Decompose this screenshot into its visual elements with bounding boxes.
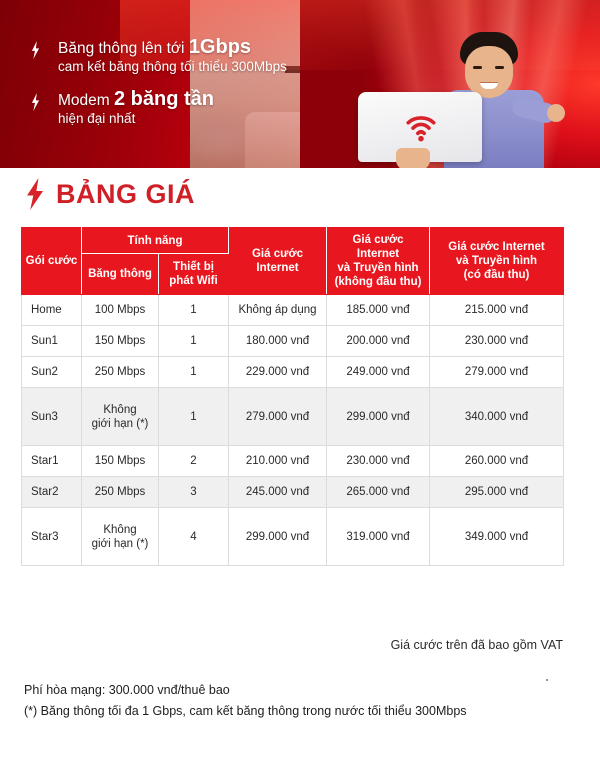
table-row: Star1150 Mbps2210.000 vnđ230.000 vnđ260.… bbox=[22, 446, 564, 477]
cell-tv-no-box-price: 265.000 vnđ bbox=[327, 477, 430, 508]
person-eye-right bbox=[495, 66, 504, 69]
col-header-internet-price-line2: Internet bbox=[232, 261, 323, 275]
cell-tv-with-box-price: 260.000 vnđ bbox=[430, 446, 564, 477]
banner-line-2-main: Modem 2 băng tần bbox=[58, 90, 326, 110]
cell-bandwidth-line1: 250 Mbps bbox=[85, 365, 155, 379]
col-header-internet-price: Giá cước Internet bbox=[229, 228, 327, 295]
cell-tv-with-box-price: 230.000 vnđ bbox=[430, 326, 564, 357]
cell-bandwidth-line1: Không bbox=[85, 403, 155, 417]
table-row: Home100 Mbps1Không áp dụng185.000 vnđ215… bbox=[22, 295, 564, 326]
col-header-tv-no-box-line1: Giá cước Internet bbox=[330, 233, 426, 261]
col-header-features-group: Tính năng bbox=[82, 228, 229, 254]
cell-wifi-device-count: 1 bbox=[159, 388, 229, 446]
cell-package: Star3 bbox=[22, 508, 82, 566]
wifi-icon bbox=[404, 110, 438, 144]
cell-package: Sun3 bbox=[22, 388, 82, 446]
col-header-wifi-device: Thiết bị phát Wifi bbox=[159, 254, 229, 295]
cell-bandwidth: 100 Mbps bbox=[82, 295, 159, 326]
cell-bandwidth-line2: giới hạn (*) bbox=[85, 537, 155, 551]
cell-wifi-device-count: 2 bbox=[159, 446, 229, 477]
section-title: BẢNG GIÁ bbox=[24, 178, 195, 210]
banner-line-1-prefix: Băng thông lên tới bbox=[58, 40, 189, 57]
cell-wifi-device-count: 1 bbox=[159, 295, 229, 326]
cell-bandwidth: Khônggiới hạn (*) bbox=[82, 388, 159, 446]
col-header-tv-with-box-line3: (có đầu thu) bbox=[433, 268, 560, 282]
vat-note: Giá cước trên đã bao gồm VAT bbox=[391, 638, 563, 652]
lightning-bolt-icon bbox=[24, 178, 46, 210]
banner-line-1: Băng thông lên tới 1Gbps cam kết băng th… bbox=[26, 38, 326, 76]
table-header: Gói cước Tính năng Giá cước Internet Giá… bbox=[22, 228, 564, 295]
cell-internet-price: 245.000 vnđ bbox=[229, 477, 327, 508]
cell-internet-price: 210.000 vnđ bbox=[229, 446, 327, 477]
cell-bandwidth-line1: Không bbox=[85, 523, 155, 537]
cell-tv-with-box-price: 215.000 vnđ bbox=[430, 295, 564, 326]
cell-tv-no-box-price: 185.000 vnđ bbox=[327, 295, 430, 326]
cell-bandwidth-line2: giới hạn (*) bbox=[85, 417, 155, 431]
pricing-table: Gói cước Tính năng Giá cước Internet Giá… bbox=[21, 227, 564, 566]
cell-internet-price: Không áp dụng bbox=[229, 295, 327, 326]
col-header-tv-with-box-line1: Giá cước Internet bbox=[433, 240, 560, 254]
banner-line-1-main: Băng thông lên tới 1Gbps bbox=[58, 38, 326, 58]
cell-internet-price: 180.000 vnđ bbox=[229, 326, 327, 357]
col-header-tv-no-box-line2: và Truyền hình bbox=[330, 261, 426, 275]
banner-line-2-prefix: Modem bbox=[58, 92, 114, 109]
col-header-tv-no-box-line3: (không đầu thu) bbox=[330, 275, 426, 289]
col-header-tv-with-box-line2: và Truyền hình bbox=[433, 254, 560, 268]
cell-bandwidth: 150 Mbps bbox=[82, 446, 159, 477]
table-row: Sun3Khônggiới hạn (*)1279.000 vnđ299.000… bbox=[22, 388, 564, 446]
banner-line-1-strong: 1Gbps bbox=[189, 36, 251, 58]
page-title: BẢNG GIÁ bbox=[56, 179, 195, 210]
table-row: Star2250 Mbps3245.000 vnđ265.000 vnđ295.… bbox=[22, 477, 564, 508]
cell-tv-no-box-price: 230.000 vnđ bbox=[327, 446, 430, 477]
col-header-tv-with-box: Giá cước Internet và Truyền hình (có đầu… bbox=[430, 228, 564, 295]
cell-package: Sun1 bbox=[22, 326, 82, 357]
cell-bandwidth-line1: 150 Mbps bbox=[85, 334, 155, 348]
col-header-wifi-device-line2: phát Wifi bbox=[162, 274, 225, 288]
cell-bandwidth-line1: 250 Mbps bbox=[85, 485, 155, 499]
cell-tv-no-box-price: 200.000 vnđ bbox=[327, 326, 430, 357]
lightning-bolt-icon bbox=[30, 93, 41, 111]
cell-package: Sun2 bbox=[22, 357, 82, 388]
cell-bandwidth: 150 Mbps bbox=[82, 326, 159, 357]
cell-bandwidth-line1: 150 Mbps bbox=[85, 454, 155, 468]
person-supporting-hand bbox=[396, 148, 430, 168]
table-row: Sun1150 Mbps1180.000 vnđ200.000 vnđ230.0… bbox=[22, 326, 564, 357]
person-pointing-hand bbox=[547, 104, 565, 122]
cell-bandwidth: 250 Mbps bbox=[82, 357, 159, 388]
cell-wifi-device-count: 4 bbox=[159, 508, 229, 566]
person-face bbox=[465, 46, 513, 98]
cell-wifi-device-count: 1 bbox=[159, 326, 229, 357]
table-row: Sun2250 Mbps1229.000 vnđ249.000 vnđ279.0… bbox=[22, 357, 564, 388]
cell-package: Star2 bbox=[22, 477, 82, 508]
banner-line-2-sub: hiện đại nhất bbox=[58, 110, 326, 128]
banner-line-2-strong: 2 băng tần bbox=[114, 88, 214, 110]
footer-note-installation-fee: Phí hòa mạng: 300.000 vnđ/thuê bao bbox=[24, 680, 467, 701]
lightning-bolt-icon bbox=[30, 41, 41, 59]
cell-tv-with-box-price: 279.000 vnđ bbox=[430, 357, 564, 388]
person-eye-left bbox=[473, 66, 482, 69]
banner-text-block: Băng thông lên tới 1Gbps cam kết băng th… bbox=[26, 38, 326, 142]
cell-tv-no-box-price: 249.000 vnđ bbox=[327, 357, 430, 388]
cell-internet-price: 229.000 vnđ bbox=[229, 357, 327, 388]
cell-wifi-device-count: 3 bbox=[159, 477, 229, 508]
cell-package: Home bbox=[22, 295, 82, 326]
cell-package: Star1 bbox=[22, 446, 82, 477]
cell-tv-no-box-price: 299.000 vnđ bbox=[327, 388, 430, 446]
cell-tv-no-box-price: 319.000 vnđ bbox=[327, 508, 430, 566]
banner-line-2: Modem 2 băng tần hiện đại nhất bbox=[26, 90, 326, 128]
cell-bandwidth-line1: 100 Mbps bbox=[85, 303, 155, 317]
table-header-row-1: Gói cước Tính năng Giá cước Internet Giá… bbox=[22, 228, 564, 254]
cell-bandwidth: Khônggiới hạn (*) bbox=[82, 508, 159, 566]
scan-artifact-dot bbox=[546, 679, 548, 681]
banner-line-1-sub: cam kết băng thông tối thiểu 300Mbps bbox=[58, 58, 326, 76]
cell-tv-with-box-price: 340.000 vnđ bbox=[430, 388, 564, 446]
col-header-internet-price-line1: Giá cước bbox=[232, 247, 323, 261]
cell-internet-price: 299.000 vnđ bbox=[229, 508, 327, 566]
cell-bandwidth: 250 Mbps bbox=[82, 477, 159, 508]
table-body: Home100 Mbps1Không áp dụng185.000 vnđ215… bbox=[22, 295, 564, 566]
table-row: Star3Khônggiới hạn (*)4299.000 vnđ319.00… bbox=[22, 508, 564, 566]
col-header-package: Gói cước bbox=[22, 228, 82, 295]
col-header-bandwidth: Băng thông bbox=[82, 254, 159, 295]
footer-notes: Phí hòa mạng: 300.000 vnđ/thuê bao (*) B… bbox=[24, 680, 467, 722]
col-header-wifi-device-line1: Thiết bị bbox=[162, 260, 225, 274]
hero-banner: Băng thông lên tới 1Gbps cam kết băng th… bbox=[0, 0, 600, 168]
cell-tv-with-box-price: 349.000 vnđ bbox=[430, 508, 564, 566]
footer-note-bandwidth-asterisk: (*) Băng thông tối đa 1 Gbps, cam kết bă… bbox=[24, 701, 467, 722]
cell-internet-price: 279.000 vnđ bbox=[229, 388, 327, 446]
cell-tv-with-box-price: 295.000 vnđ bbox=[430, 477, 564, 508]
cell-wifi-device-count: 1 bbox=[159, 357, 229, 388]
col-header-tv-no-box: Giá cước Internet và Truyền hình (không … bbox=[327, 228, 430, 295]
pricing-infographic: Băng thông lên tới 1Gbps cam kết băng th… bbox=[0, 0, 600, 761]
